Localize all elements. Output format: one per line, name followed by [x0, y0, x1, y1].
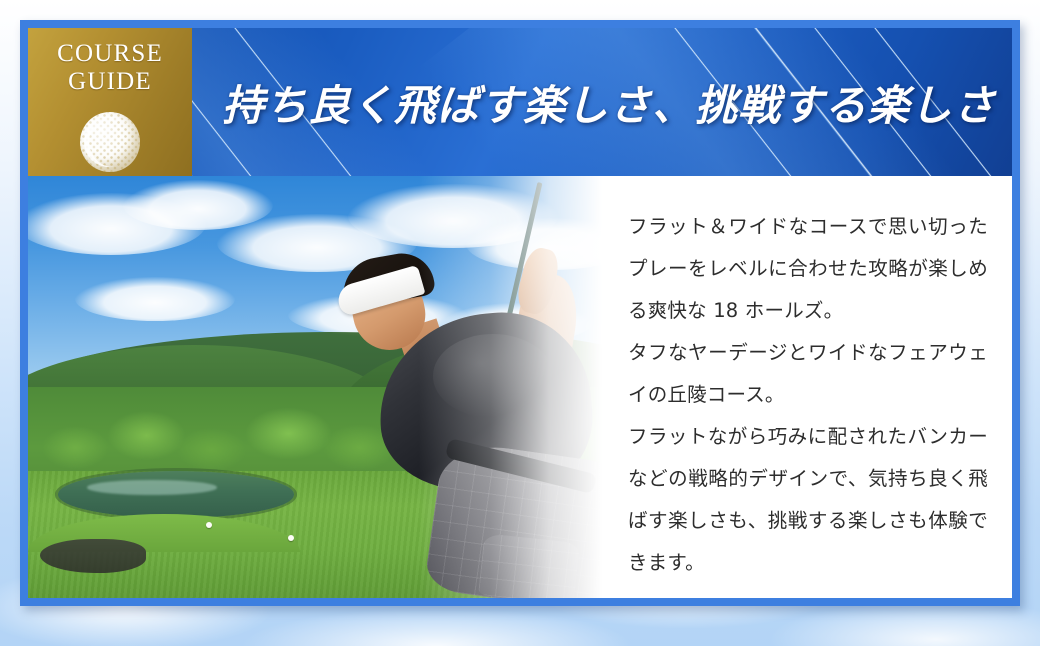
pond-reflect [87, 480, 217, 495]
course-photo-scene [28, 176, 620, 598]
golf-ball-marker-1 [206, 522, 212, 528]
course-guide-badge: COURSE GUIDE [28, 28, 192, 176]
card-body: フラット＆ワイドなコースで思い切ったプレーをレベルに合わせた攻略が楽しめる爽快な… [28, 176, 1012, 598]
golfer-leg [478, 533, 580, 598]
description-text: フラット＆ワイドなコースで思い切ったプレーをレベルに合わせた攻略が楽しめる爽快な… [628, 206, 988, 584]
description-block: フラット＆ワイドなコースで思い切ったプレーをレベルに合わせた攻略が楽しめる爽快な… [628, 206, 988, 584]
cart-path [40, 539, 147, 573]
header-title: 持ち良く飛ばす楽しさ、挑戦する楽しさ [192, 28, 1012, 176]
course-guide-card: COURSE GUIDE 持 [20, 20, 1020, 606]
golf-ball-icon [80, 112, 140, 172]
badge-title: COURSE GUIDE [28, 40, 192, 96]
golfer-figure [283, 238, 613, 598]
golfer-shirt-highlight [433, 334, 553, 418]
page-background: COURSE GUIDE 持 [0, 0, 1040, 646]
course-photo [28, 176, 620, 598]
card-header: COURSE GUIDE 持 [28, 28, 1012, 176]
card-inner: COURSE GUIDE 持 [28, 28, 1012, 598]
header-banner: 持ち良く飛ばす楽しさ、挑戦する楽しさ [192, 28, 1012, 176]
pond [58, 471, 295, 517]
